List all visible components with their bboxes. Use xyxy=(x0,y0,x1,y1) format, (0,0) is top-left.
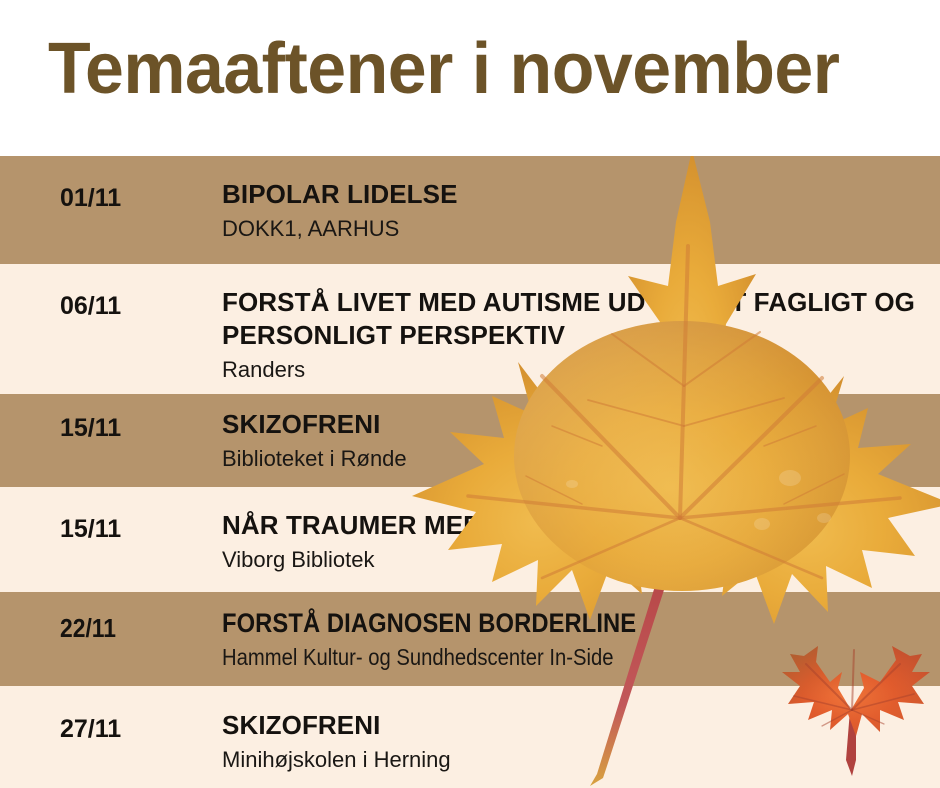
event-list: 01/11 BIPOLAR LIDELSE DOKK1, AARHUS 06/1… xyxy=(0,156,940,788)
event-text: BIPOLAR LIDELSE DOKK1, AARHUS xyxy=(222,178,922,243)
event-date: 06/11 xyxy=(60,292,210,321)
event-text: FORSTÅ LIVET MED AUTISME UD FRA ET FAGLI… xyxy=(222,286,922,384)
event-place: Minihøjskolen i Herning xyxy=(222,745,922,774)
event-date: 15/11 xyxy=(60,515,210,544)
event-row-6: 27/11 SKIZOFRENI Minihøjskolen i Herning xyxy=(0,686,940,788)
event-title: BIPOLAR LIDELSE xyxy=(222,178,922,211)
event-row-2: 06/11 FORSTÅ LIVET MED AUTISME UD FRA ET… xyxy=(0,264,940,394)
event-title: FORSTÅ DIAGNOSEN BORDERLINE xyxy=(222,607,838,640)
event-row-1: 01/11 BIPOLAR LIDELSE DOKK1, AARHUS xyxy=(0,156,940,264)
event-place: Viborg Bibliotek xyxy=(222,545,922,574)
event-place: Biblioteket i Rønde xyxy=(222,444,922,473)
event-row-4: 15/11 NÅR TRAUMER MEDFØRER PTSD Viborg B… xyxy=(0,487,940,592)
title-band: Temaaftener i november xyxy=(0,0,940,156)
event-row-5: 22/11 FORSTÅ DIAGNOSEN BORDERLINE Hammel… xyxy=(0,592,940,686)
event-text: SKIZOFRENI Minihøjskolen i Herning xyxy=(222,709,922,774)
event-date: 15/11 xyxy=(60,414,210,443)
event-place: Randers xyxy=(222,355,922,384)
event-text: SKIZOFRENI Biblioteket i Rønde xyxy=(222,408,922,473)
event-date: 27/11 xyxy=(60,715,210,744)
event-title: NÅR TRAUMER MEDFØRER PTSD xyxy=(222,509,922,542)
event-place: DOKK1, AARHUS xyxy=(222,214,922,243)
event-title: SKIZOFRENI xyxy=(222,709,922,742)
page-title: Temaaftener i november xyxy=(48,27,839,111)
poster-canvas: 01/11 BIPOLAR LIDELSE DOKK1, AARHUS 06/1… xyxy=(0,0,940,788)
event-title: SKIZOFRENI xyxy=(222,408,922,441)
event-text: NÅR TRAUMER MEDFØRER PTSD Viborg Bibliot… xyxy=(222,509,922,574)
event-date: 01/11 xyxy=(60,184,210,213)
event-text: FORSTÅ DIAGNOSEN BORDERLINE Hammel Kultu… xyxy=(222,607,922,672)
event-title: FORSTÅ LIVET MED AUTISME UD FRA ET FAGLI… xyxy=(222,286,922,352)
event-place: Hammel Kultur- og Sundhedscenter In-Side xyxy=(222,643,838,672)
event-date: 22/11 xyxy=(60,613,192,644)
event-row-3: 15/11 SKIZOFRENI Biblioteket i Rønde xyxy=(0,394,940,487)
